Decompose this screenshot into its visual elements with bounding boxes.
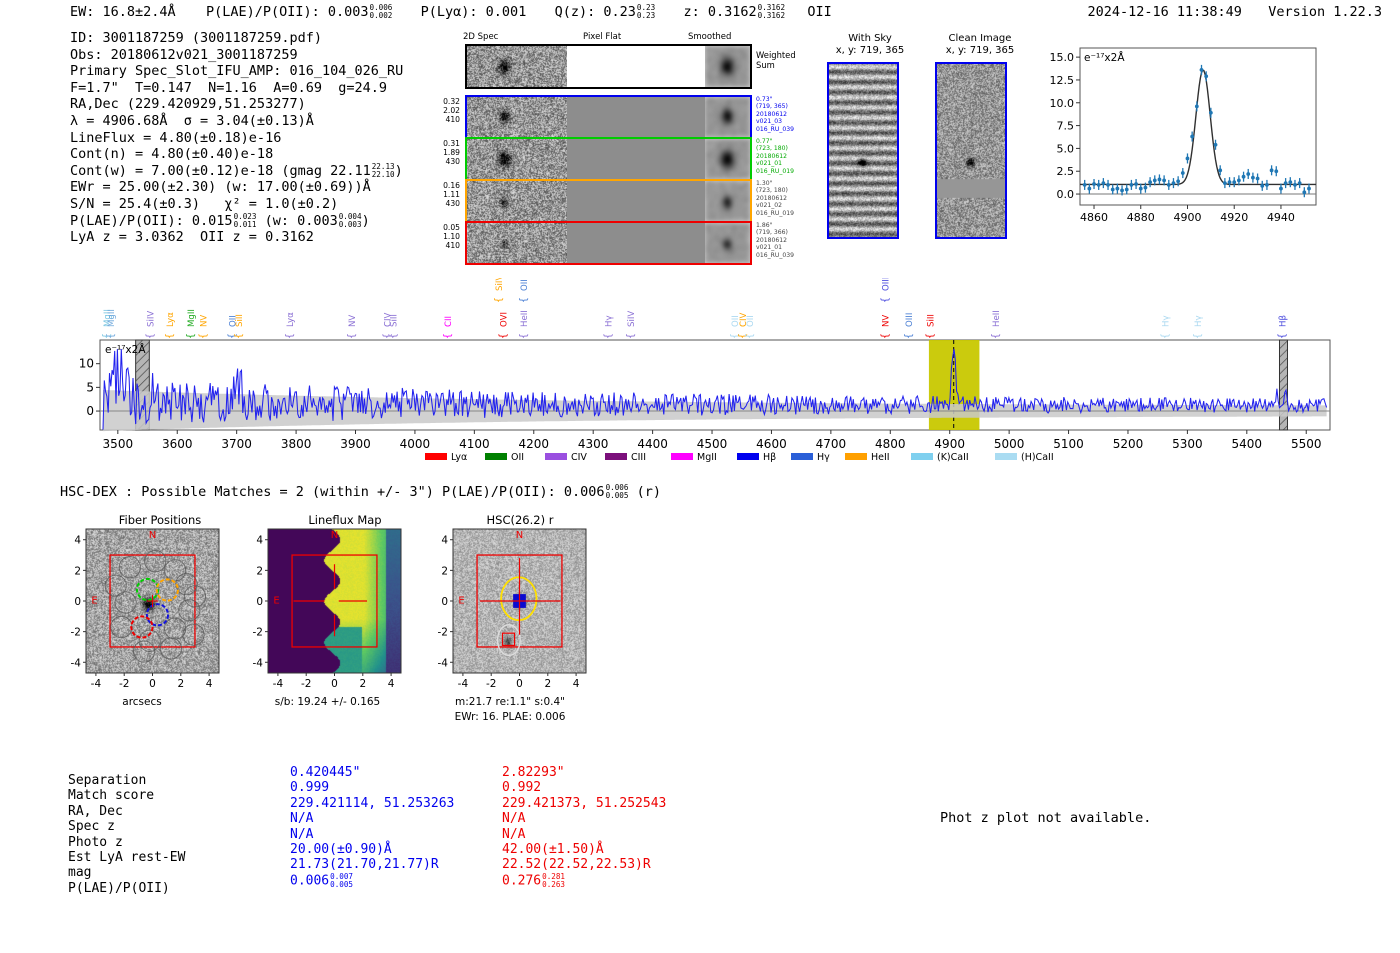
svg-text:5.0: 5.0 <box>1057 142 1075 155</box>
spec2d-montage: 2D Spec Pixel Flat Smoothed Weighted Sum… <box>420 32 810 257</box>
svg-text:N: N <box>149 530 156 541</box>
fiber-positions-panel[interactable]: NE-4-4-2-2002244 <box>58 525 223 699</box>
with-sky-coords: x, y: 719, 365 <box>820 45 920 57</box>
svg-text:3800: 3800 <box>281 437 312 451</box>
svg-text:CII: CII <box>444 316 454 327</box>
match-table-blue-value: 0.420445" <box>290 765 360 780</box>
header-timestamp-version: 2024-12-16 11:38:49 Version 1.22.3 <box>1087 4 1382 20</box>
with-sky-title-text: With Sky <box>820 33 920 45</box>
header-plae: P(LAE)/P(OII): 0.003 <box>206 4 369 20</box>
svg-text:N: N <box>516 530 523 541</box>
svg-text:4200: 4200 <box>518 437 549 451</box>
svg-text:0: 0 <box>516 678 523 690</box>
svg-text:{: { <box>904 333 915 339</box>
match-table-label: Spec z <box>68 819 115 834</box>
info-obs: Obs: 20180612v021_3001187259 <box>70 47 403 64</box>
svg-text:12.5: 12.5 <box>1050 74 1075 87</box>
panel-pixelflat-2 <box>567 139 705 179</box>
match-table-label: mag <box>68 865 91 880</box>
svg-text:0: 0 <box>331 678 338 690</box>
clean-image-title: Clean Image x, y: 719, 365 <box>925 33 1035 57</box>
spec2d-right-labels-1: 0.73" (719, 365) 20180612 v021_03 016_RU… <box>756 96 794 133</box>
svg-text:4900: 4900 <box>934 437 965 451</box>
svg-text:{: { <box>880 333 891 339</box>
svg-text:HeII: HeII <box>871 452 890 463</box>
spec2d-row-1 <box>465 95 752 139</box>
svg-text:4940: 4940 <box>1267 211 1295 224</box>
version-label: Version 1.22.3 <box>1268 4 1382 20</box>
lineflux-map-xlabel: s/b: 19.24 +/- 0.165 <box>240 696 415 708</box>
svg-text:0: 0 <box>149 678 156 690</box>
svg-text:{: { <box>185 333 196 339</box>
match-table-label: Photo z <box>68 835 123 850</box>
header-ew: EW: 16.8±2.4Å <box>70 4 176 20</box>
svg-text:Hγ: Hγ <box>1194 315 1204 327</box>
header-qz-bounds: 0.230.23 <box>637 4 655 20</box>
svg-text:SiII: SiII <box>235 314 245 327</box>
svg-text:2: 2 <box>74 565 81 577</box>
svg-text:{: { <box>744 333 755 339</box>
svg-text:{: { <box>1160 333 1171 339</box>
panel-pixelflat-4 <box>567 223 705 263</box>
svg-text:(H)CaII: (H)CaII <box>1021 452 1054 463</box>
svg-text:{: { <box>443 333 454 339</box>
svg-text:2: 2 <box>256 565 263 577</box>
svg-text:Hγ: Hγ <box>1161 315 1171 327</box>
panel-smoothed-1 <box>705 97 750 137</box>
clean-image-title-text: Clean Image <box>925 33 1035 45</box>
svg-text:Lyα: Lyα <box>451 452 467 463</box>
header-summary-line: EW: 16.8±2.4Å P(LAE)/P(OII): 0.0030.0060… <box>70 4 832 20</box>
panel-smoothed-2 <box>705 139 750 179</box>
svg-text:CIV: CIV <box>571 452 587 463</box>
svg-text:3500: 3500 <box>103 437 134 451</box>
spec2d-col-title-smoothed: Smoothed <box>688 32 731 42</box>
svg-text:2: 2 <box>177 678 184 690</box>
svg-text:SiII: SiII <box>389 314 399 327</box>
panel-pixelflat-3 <box>567 181 705 221</box>
match-table-red-value: 22.52(22.52,22.53)R <box>502 857 651 872</box>
svg-text:2: 2 <box>544 678 551 690</box>
svg-text:4600: 4600 <box>756 437 787 451</box>
svg-text:{: { <box>233 333 244 339</box>
svg-text:4000: 4000 <box>400 437 431 451</box>
spec2d-right-labels-3: 1.30" (723, 180) 20180612 v021_02 016_RU… <box>756 180 794 217</box>
svg-text:Lyα: Lyα <box>286 312 296 327</box>
svg-text:4920: 4920 <box>1220 211 1248 224</box>
match-table-label: Separation <box>68 773 146 788</box>
match-table-label: Match score <box>68 788 154 803</box>
svg-text:{: { <box>388 333 399 339</box>
svg-text:SiIV: SiIV <box>146 311 156 327</box>
source-info-block: ID: 3001187259 (3001187259.pdf) Obs: 201… <box>70 30 403 246</box>
match-table-red-value: 0.992 <box>502 780 541 795</box>
svg-text:0: 0 <box>74 596 81 608</box>
info-radec: RA,Dec (229.420929,51.253277) <box>70 96 403 113</box>
svg-text:3900: 3900 <box>340 437 371 451</box>
hsc-summary-tail: (r) <box>637 484 661 500</box>
svg-text:CIII: CIII <box>631 452 646 463</box>
info-primary: Primary Spec_Slot_IFU_AMP: 016_104_026_R… <box>70 63 403 80</box>
svg-text:{: { <box>519 297 530 303</box>
svg-text:4: 4 <box>573 678 580 690</box>
svg-text:-4: -4 <box>458 678 469 690</box>
svg-text:10: 10 <box>79 357 94 371</box>
svg-text:OII: OII <box>511 452 524 463</box>
svg-text:e⁻¹⁷x2Å: e⁻¹⁷x2Å <box>1084 51 1125 64</box>
svg-text:4: 4 <box>206 678 213 690</box>
spec2d-row-4 <box>465 221 752 265</box>
svg-text:-4: -4 <box>253 657 264 669</box>
fiber-positions-xlabel: arcsecs <box>62 696 222 708</box>
header-z: z: 0.3162 <box>683 4 756 20</box>
svg-text:0: 0 <box>256 596 263 608</box>
with-sky-title: With Sky x, y: 719, 365 <box>820 33 920 57</box>
svg-text:4880: 4880 <box>1127 211 1155 224</box>
svg-text:5200: 5200 <box>1113 437 1144 451</box>
svg-text:OII: OII <box>520 279 530 291</box>
match-table-red-value: N/A <box>502 811 525 826</box>
svg-text:{: { <box>494 297 505 303</box>
svg-text:{: { <box>106 333 117 339</box>
svg-text:Lyα: Lyα <box>166 312 176 327</box>
svg-text:5: 5 <box>86 380 94 394</box>
photoz-not-available-message: Phot z plot not available. <box>940 810 1151 826</box>
match-table-label: RA, Dec <box>68 804 123 819</box>
info-params: F=1.7" T=0.147 N=1.16 A=0.69 g=24.9 <box>70 80 403 97</box>
svg-text:-2: -2 <box>119 678 129 690</box>
svg-text:0.0: 0.0 <box>1057 188 1075 201</box>
hsc-r-panel[interactable]: NE-4-4-2-2002244 <box>425 525 590 699</box>
svg-text:Hγ: Hγ <box>605 315 615 327</box>
panel-smoothed-4 <box>705 223 750 263</box>
spec2d-col-title-pixelflat: Pixel Flat <box>583 32 621 42</box>
info-lineflux: LineFlux = 4.80(±0.18)e-16 <box>70 130 403 147</box>
match-table-blue-value: N/A <box>290 811 313 826</box>
svg-text:15.0: 15.0 <box>1050 51 1075 64</box>
svg-text:e⁻¹⁷x2Å: e⁻¹⁷x2Å <box>105 343 146 356</box>
svg-text:4100: 4100 <box>459 437 490 451</box>
zoom-spectrum-chart: 486048804900492049400.02.55.07.510.012.5… <box>1032 40 1322 235</box>
svg-text:{: { <box>164 333 175 339</box>
svg-text:HeII: HeII <box>992 310 1002 327</box>
svg-text:4900: 4900 <box>1173 211 1201 224</box>
svg-text:2: 2 <box>441 565 448 577</box>
svg-text:7.5: 7.5 <box>1057 120 1075 133</box>
clean-image-cutout <box>935 62 1007 239</box>
svg-text:{: { <box>990 333 1001 339</box>
match-table-red-value: 42.00(±1.50)Å <box>502 842 604 857</box>
info-lambda: λ = 4906.68Å σ = 3.04(±0.13)Å <box>70 113 403 130</box>
match-table-blue-value: 229.421114, 51.253263 <box>290 796 454 811</box>
svg-text:5100: 5100 <box>1053 437 1084 451</box>
svg-text:E: E <box>458 595 464 606</box>
clean-image-coords: x, y: 719, 365 <box>925 45 1035 57</box>
svg-text:{: { <box>626 333 637 339</box>
header-z-type: OII <box>807 4 831 20</box>
svg-text:-2: -2 <box>253 627 263 639</box>
panel-smoothed-3 <box>705 181 750 221</box>
spec2d-row-weighted-sum <box>465 44 752 89</box>
spec2d-right-labels-2: 0.77" (723, 180) 20180612 v021_01 016_RU… <box>756 138 794 175</box>
match-table-red-value: 0.2760.2810.263 <box>502 873 565 889</box>
svg-text:MgII: MgII <box>187 309 197 327</box>
match-table-label: Est LyA rest-EW <box>68 850 185 865</box>
svg-text:MgII: MgII <box>697 452 717 463</box>
svg-text:-2: -2 <box>301 678 311 690</box>
hsc-summary-text: HSC-DEX : Possible Matches = 2 (within +… <box>60 484 605 500</box>
panel-2dspec-2 <box>467 139 567 179</box>
panel-2dspec-4 <box>467 223 567 263</box>
spec2d-row-3 <box>465 179 752 223</box>
svg-text:{: { <box>285 333 296 339</box>
header-plya: P(Lyα): 0.001 <box>421 4 527 20</box>
match-table-red-value: 2.82293" <box>502 765 565 780</box>
lineflux-map-panel[interactable]: NE-4-4-2-2002244 <box>240 525 405 699</box>
svg-text:{: { <box>498 333 509 339</box>
spec2d-right-labels-4: 1.86" (719, 366) 20180612 v021_01 016_RU… <box>756 222 794 259</box>
svg-text:MgII: MgII <box>107 309 117 327</box>
hsc-r-xlabel: m:21.7 re:1.1" s:0.4" <box>420 696 600 708</box>
match-table-red-value: N/A <box>502 827 525 842</box>
svg-text:E: E <box>91 595 97 606</box>
match-table-blue-value: 0.0060.0070.005 <box>290 873 353 889</box>
spec2d-left-labels-4: 0.05 1.10 410 <box>420 223 460 250</box>
spec2d-left-labels-3: 0.16 1.11 430 <box>420 181 460 208</box>
svg-text:{: { <box>925 333 936 339</box>
hsc-r-xlabel2: EWr: 16. PLAE: 0.006 <box>420 711 600 723</box>
svg-text:NV: NV <box>199 315 209 327</box>
info-cont-n: Cont(n) = 4.80(±0.40)e-18 <box>70 146 403 163</box>
svg-text:4: 4 <box>256 535 263 547</box>
svg-text:5500: 5500 <box>1291 437 1322 451</box>
panel-smoothed <box>705 46 750 87</box>
svg-text:Hβ: Hβ <box>763 452 776 463</box>
svg-text:4: 4 <box>441 535 448 547</box>
header-z-bounds: 0.31620.3162 <box>758 4 785 20</box>
panel-2dspec-1 <box>467 97 567 137</box>
svg-text:E: E <box>273 595 279 606</box>
svg-text:-2: -2 <box>438 627 448 639</box>
svg-text:{: { <box>346 333 357 339</box>
svg-text:3700: 3700 <box>221 437 252 451</box>
info-sn-chi2: S/N = 25.4(±0.3) χ² = 1.0(±0.2) <box>70 196 403 213</box>
svg-text:NV: NV <box>348 315 358 327</box>
svg-text:4: 4 <box>388 678 395 690</box>
svg-text:OIII: OIII <box>905 313 915 327</box>
svg-text:4400: 4400 <box>637 437 668 451</box>
info-redshifts: LyA z = 3.0362 OII z = 0.3162 <box>70 229 403 246</box>
match-table-label: P(LAE)/P(OII) <box>68 881 170 896</box>
info-cont-w: Cont(w) = 7.00(±0.12)e-18 (gmag 22.1122.… <box>70 163 403 180</box>
svg-text:4500: 4500 <box>697 437 728 451</box>
svg-text:-4: -4 <box>438 657 449 669</box>
match-table-blue-value: 0.999 <box>290 780 329 795</box>
hsc-dex-summary: HSC-DEX : Possible Matches = 2 (within +… <box>60 484 661 500</box>
spec2d-row-2 <box>465 137 752 181</box>
svg-text:Hβ: Hβ <box>1278 315 1288 327</box>
spec2d-weighted-sum-label: Weighted Sum <box>756 50 796 70</box>
svg-text:-4: -4 <box>273 678 284 690</box>
svg-text:(K)CaII: (K)CaII <box>937 452 969 463</box>
svg-text:5300: 5300 <box>1172 437 1203 451</box>
panel-2dspec-3 <box>467 181 567 221</box>
full-spectrum-chart: e⁻¹⁷x2Å350036003700380039004000410042004… <box>60 278 1340 468</box>
svg-text:4800: 4800 <box>875 437 906 451</box>
svg-text:-2: -2 <box>486 678 496 690</box>
panel-pixelflat-1 <box>567 97 705 137</box>
svg-text:2.5: 2.5 <box>1057 165 1075 178</box>
svg-text:2: 2 <box>359 678 366 690</box>
svg-text:5400: 5400 <box>1232 437 1263 451</box>
svg-text:-2: -2 <box>71 627 81 639</box>
match-table-blue-value: N/A <box>290 827 313 842</box>
header-qz: Q(z): 0.23 <box>555 4 636 20</box>
svg-text:5000: 5000 <box>994 437 1025 451</box>
svg-text:SiIV: SiIV <box>627 311 637 327</box>
match-table-red-value: 229.421373, 51.252543 <box>502 796 666 811</box>
panel-2dspec <box>467 46 567 87</box>
svg-text:{: { <box>603 333 614 339</box>
svg-text:3600: 3600 <box>162 437 193 451</box>
match-table-blue-value: 21.73(21.70,21.77)R <box>290 857 439 872</box>
timestamp: 2024-12-16 11:38:49 <box>1087 4 1241 20</box>
svg-text:OIII: OIII <box>881 278 891 291</box>
svg-text:{: { <box>519 333 530 339</box>
svg-text:4: 4 <box>74 535 81 547</box>
spec2d-col-title-2dspec: 2D Spec <box>463 32 498 42</box>
panel-pixelflat <box>567 46 705 87</box>
info-plae: P(LAE)/P(OII): 0.0150.0230.011 (w: 0.003… <box>70 213 403 230</box>
svg-text:{: { <box>145 333 156 339</box>
svg-text:4700: 4700 <box>816 437 847 451</box>
svg-text:4300: 4300 <box>578 437 609 451</box>
svg-text:N: N <box>331 530 338 541</box>
svg-text:SiIV: SiIV <box>495 278 505 291</box>
svg-text:OVI: OVI <box>499 312 509 327</box>
svg-text:HeII: HeII <box>520 310 530 327</box>
header-plae-bounds: 0.0060.002 <box>370 4 393 20</box>
svg-text:{: { <box>880 297 891 303</box>
svg-text:{: { <box>1277 333 1288 339</box>
svg-text:Hγ: Hγ <box>817 452 830 463</box>
match-table-blue-value: 20.00(±0.90)Å <box>290 842 392 857</box>
svg-text:{: { <box>198 333 209 339</box>
svg-text:10.0: 10.0 <box>1050 97 1075 110</box>
svg-text:4860: 4860 <box>1080 211 1108 224</box>
hsc-summary-bounds: 0.0060.005 <box>606 484 629 500</box>
svg-text:-4: -4 <box>91 678 102 690</box>
info-ewr: EWr = 25.00(±2.30) (w: 17.00(±0.69))Å <box>70 179 403 196</box>
svg-text:{: { <box>1192 333 1203 339</box>
svg-text:NV: NV <box>881 315 891 327</box>
svg-text:0: 0 <box>441 596 448 608</box>
info-id: ID: 3001187259 (3001187259.pdf) <box>70 30 403 47</box>
spec2d-left-labels-2: 0.31 1.89 430 <box>420 139 460 166</box>
spec2d-left-labels-1: 0.32 2.02 410 <box>420 97 460 124</box>
svg-text:-4: -4 <box>71 657 82 669</box>
with-sky-cutout <box>827 62 899 239</box>
svg-text:SiII: SiII <box>927 314 937 327</box>
svg-text:OII: OII <box>746 315 756 327</box>
svg-text:0: 0 <box>86 404 94 418</box>
